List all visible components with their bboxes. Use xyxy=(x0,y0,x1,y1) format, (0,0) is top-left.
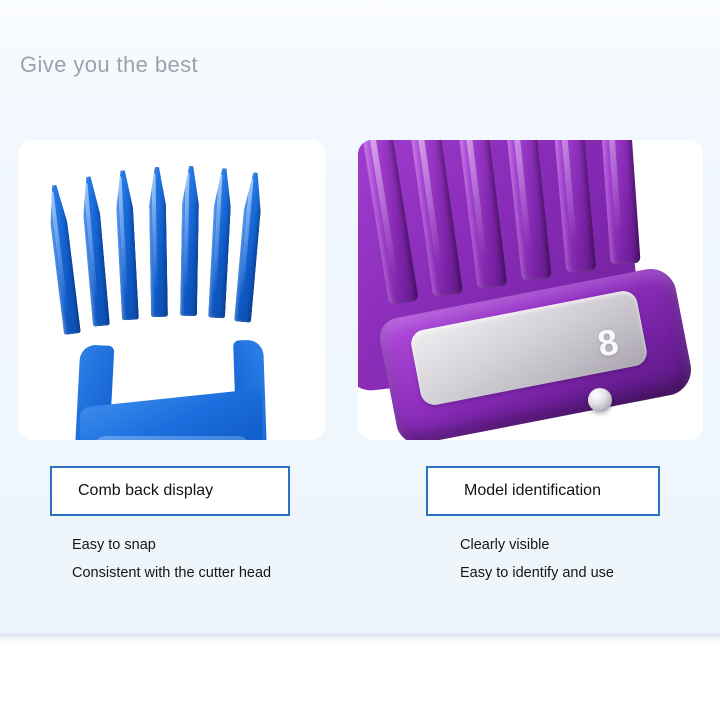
bullet-list-model-id: Clearly visible Easy to identify and use xyxy=(460,531,614,588)
comb-tooth xyxy=(80,176,110,327)
comb-screw xyxy=(588,388,612,412)
comb-tooth xyxy=(114,170,139,321)
comb-tooth xyxy=(234,172,264,323)
product-feature-page: Give you the best #2 Cut Length xyxy=(0,0,720,720)
blue-clipper-guard-comb-photo: #2 Cut Length xyxy=(18,140,325,440)
caption-box-model-id: Model identification xyxy=(426,466,660,516)
panel-bottom-shadow xyxy=(0,633,720,643)
page-title: Give you the best xyxy=(20,52,198,78)
caption-box-comb-back: Comb back display xyxy=(50,466,290,516)
bullet-item: Easy to snap xyxy=(72,531,271,559)
feature-card-comb-back: #2 Cut Length xyxy=(18,140,325,440)
caption-title: Comb back display xyxy=(78,482,213,500)
purple-clipper-guard-comb-photo: 8 1in 25mm USA xyxy=(358,140,703,440)
feature-card-model-id: 8 1in 25mm USA xyxy=(358,140,703,440)
bullet-item: Clearly visible xyxy=(460,531,614,559)
bullet-item: Easy to identify and use xyxy=(460,559,614,587)
bullet-list-comb-back: Easy to snap Consistent with the cutter … xyxy=(72,531,271,588)
comb-tooth xyxy=(148,167,168,317)
blue-comb-stage: #2 Cut Length xyxy=(18,140,325,440)
caption-title: Model identification xyxy=(464,482,601,500)
comb-tooth xyxy=(208,168,233,319)
comb-tooth xyxy=(180,166,200,316)
comb-tooth xyxy=(46,184,81,335)
purple-comb-stage: 8 1in 25mm USA xyxy=(358,140,703,440)
comb-body xyxy=(94,436,250,440)
bullet-item: Consistent with the cutter head xyxy=(72,559,271,587)
